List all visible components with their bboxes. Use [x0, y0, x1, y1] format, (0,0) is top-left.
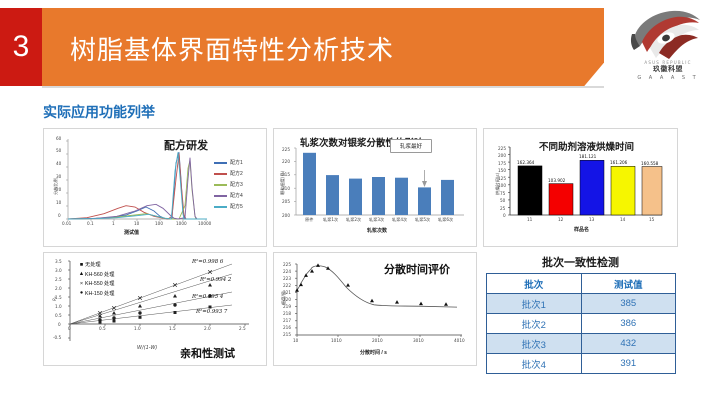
chart4-r2-kh560: R²=0.994 2 [200, 277, 231, 283]
chart5-xtick-2: 2010 [372, 338, 383, 343]
chart-panel-rolling-times: 轧浆次数对银浆分散性的影响 200 205 210 215 220 225 颗粒… [273, 128, 477, 247]
chart1-legend: 配方1 配方2 配方3 配方4 配方5 [214, 157, 262, 212]
legend-label: 配方4 [230, 192, 243, 199]
slide-number: 3 [13, 32, 30, 62]
chart5-x-axis-label: 分散时间 / s [360, 349, 387, 356]
chart4-r2-kh150: R²=0.995 4 [192, 294, 223, 300]
table-cell-batch: 批次3 [487, 334, 582, 354]
chart4-title: 亲和性测试 [180, 345, 235, 361]
chart2-xtick-4: 轧浆4次 [392, 217, 407, 223]
table-row[interactable]: 批次2 386 [487, 314, 676, 334]
chart1-xtick-6: 10000 [198, 221, 211, 226]
table-cell-value: 386 [581, 314, 676, 334]
chart3-bar-label-1: 103.902 [548, 178, 565, 183]
chart2-xtick-5: 轧浆5次 [415, 217, 430, 223]
chart4-xtick-2.0: 2.0 [204, 326, 211, 331]
table-cell-value: 432 [581, 334, 676, 354]
chart2-xtick-1: 轧浆1次 [323, 217, 338, 223]
chart4-r2-kh550: R²=0.998 6 [192, 259, 223, 265]
chart4-xtick-1.5: 1.5 [169, 326, 176, 331]
chart4-xtick-0.5: 0.5 [99, 326, 106, 331]
legend-swatch-icon [214, 184, 227, 186]
legend-swatch-icon [214, 162, 227, 164]
legend-swatch-icon [214, 206, 227, 208]
logo-subtext: ASUS REPUBLIC 玖徽科盟 G A A A S T [626, 60, 710, 82]
chart3-xtick-1: 12 [558, 217, 563, 222]
legend-label: 配方1 [230, 159, 243, 166]
rog-eye-logo-icon [626, 8, 710, 60]
chart2-xtick-0: 原件 [305, 217, 313, 223]
chart-panel-formula-development: 配方研发 0 10 20 30 40 50 60 分布比例 [43, 128, 267, 247]
slide-number-block: 3 [0, 8, 42, 86]
legend-label: 配方2 [230, 170, 243, 177]
page-title: 树脂基体界面特性分析技术 [70, 30, 394, 67]
slide-header: 3 树脂基体界面特性分析技术 [0, 8, 720, 86]
chart4-xtick-1.0: 1.0 [134, 326, 141, 331]
chart3-bar-label-3: 161.206 [610, 160, 627, 165]
table-cell-batch: 批次1 [487, 294, 582, 314]
legend-item: 配方2 [214, 168, 262, 179]
legend-item: 配方3 [214, 179, 262, 190]
table-col-batch: 批次 [487, 274, 582, 294]
chart3-x-axis-label: 样品名 [574, 226, 589, 233]
table-row[interactable]: 批次3 432 [487, 334, 676, 354]
chart1-xtick-1: 0.1 [87, 221, 94, 226]
chart3-xtick-2: 13 [589, 217, 594, 222]
table-col-value: 测试值 [581, 274, 676, 294]
header-divider [42, 86, 604, 88]
chart3-xtick-4: 15 [649, 217, 654, 222]
chart1-xtick-4: 100 [155, 221, 163, 226]
chart4-xtick-2.5: 2.5 [239, 326, 246, 331]
chart2-xtick-6: 轧浆6次 [438, 217, 453, 223]
chart2-xtick-2: 轧浆2次 [346, 217, 361, 223]
chart3-bar-label-2: 181.121 [579, 154, 596, 159]
legend-swatch-icon [214, 195, 227, 197]
company-logo: ASUS REPUBLIC 玖徽科盟 G A A A S T [626, 8, 710, 84]
chart-panel-solvent-drying: 不同助剂溶液烘燥时间 0 25 50 75 100 125 150 175 20… [483, 128, 678, 247]
table-header-row: 批次 测试值 [487, 274, 676, 294]
table-cell-batch: 批次2 [487, 314, 582, 334]
chart5-xtick-1: 1010 [331, 338, 342, 343]
legend-item: 配方4 [214, 190, 262, 201]
chart2-annotation: 轧浆最好 [390, 139, 432, 153]
table-cell-value: 391 [581, 354, 676, 374]
legend-item: 配方1 [214, 157, 262, 168]
chart3-xtick-3: 14 [620, 217, 625, 222]
table-row[interactable]: 批次1 385 [487, 294, 676, 314]
batch-consistency-table: 批次 测试值 批次1 385 批次2 386 批次3 432 批次4 391 [486, 273, 676, 374]
chart1-xtick-2: 1 [112, 221, 115, 226]
legend-swatch-icon [214, 173, 227, 175]
chart4-x-axis-label: W/(1-W) [137, 345, 157, 351]
chart5-xtick-4: 4010 [454, 338, 465, 343]
section-title: 实际应用功能列举 [43, 102, 155, 122]
logo-line-2: 玖徽科盟 [626, 65, 710, 74]
legend-item: 配方5 [214, 201, 262, 212]
table-cell-batch: 批次4 [487, 354, 582, 374]
chart2-annotation-text: 轧浆最好 [400, 142, 422, 150]
chart3-xtick-0: 11 [527, 217, 532, 222]
chart5-xtick-0: 10 [293, 338, 298, 343]
chart4-xtick-0: 0 [68, 326, 71, 331]
chart3-bar-label-4: 160.558 [641, 161, 658, 166]
chart-panel-affinity-test: 3.5 3.0 2.5 2.0 1.5 1.0 0.5 0 -0.5 Rₑ ■ … [43, 252, 267, 366]
chart1-xtick-3: 10 [134, 221, 139, 226]
slide: 3 树脂基体界面特性分析技术 ASUS REPUBLIC 玖徽科盟 G A A … [0, 0, 720, 405]
chart5-xtick-3: 3010 [413, 338, 424, 343]
table-row[interactable]: 批次4 391 [487, 354, 676, 374]
legend-label: 配方5 [230, 203, 243, 210]
chart-panel-dispersion-time: 分散时间评价 225 224 223 222 221 220 219 218 2… [273, 252, 477, 366]
chart4-r2-untreated: R²=0.993 7 [196, 309, 227, 315]
chart1-x-axis-label: 测试值 [124, 229, 139, 236]
table-title: 批次一致性检测 [483, 254, 678, 270]
chart2-x-axis-label: 轧浆次数 [367, 227, 387, 234]
logo-line-3: G A A A S T [626, 75, 710, 82]
chart2-xtick-3: 轧浆3次 [369, 217, 384, 223]
legend-label: 配方3 [230, 181, 243, 188]
chart3-bar-label-0: 162.364 [517, 160, 534, 165]
chart1-xtick-5: 1000 [176, 221, 187, 226]
chart1-xtick-0: 0.01 [62, 221, 71, 226]
table-cell-value: 385 [581, 294, 676, 314]
